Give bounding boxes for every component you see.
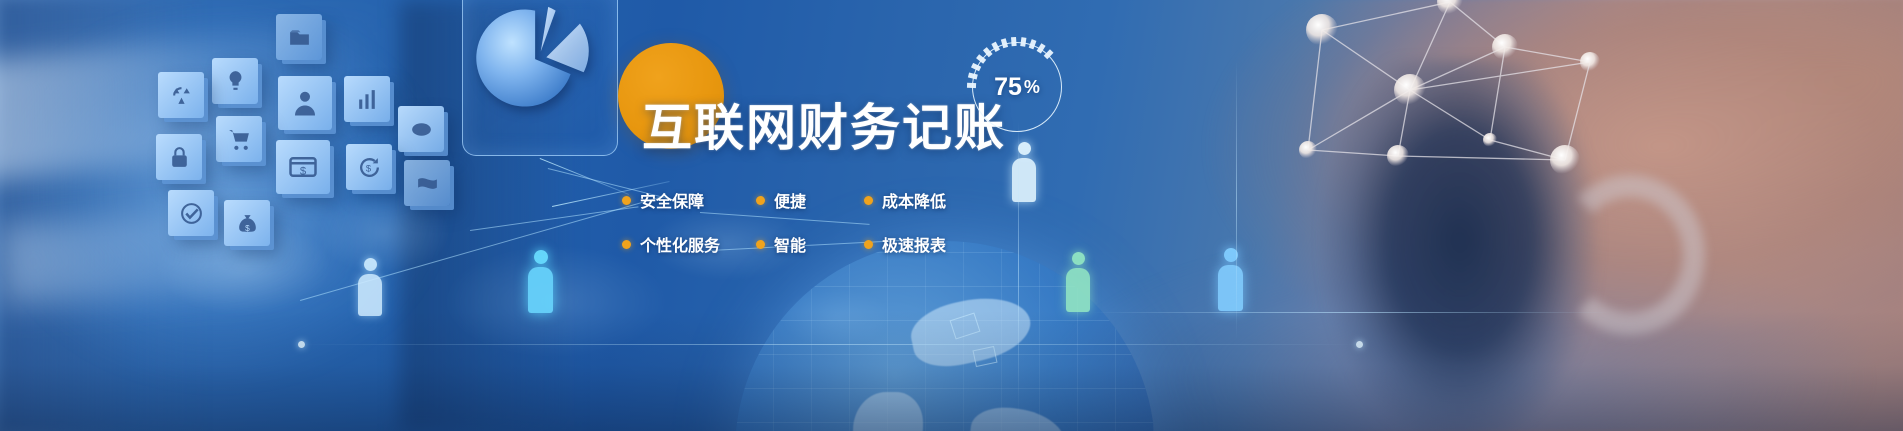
bullet-dot-icon	[622, 196, 631, 205]
gauge-value-group: 75 %	[972, 42, 1062, 132]
bullet-dot-icon	[756, 196, 765, 205]
person-pictogram	[358, 258, 382, 316]
icon-cube-cluster: $ $ $	[150, 10, 480, 270]
network-node-graph	[1290, 0, 1610, 180]
person-pictogram	[1066, 252, 1090, 312]
person-pictogram	[528, 250, 553, 313]
feature-item[interactable]: 极速报表	[864, 232, 946, 256]
feature-item[interactable]: 成本降低	[864, 188, 946, 212]
person-icon	[278, 76, 332, 130]
feature-label: 智能	[774, 232, 806, 256]
recycle-icon	[158, 72, 204, 118]
feature-label: 便捷	[774, 188, 806, 212]
coin-icon	[398, 106, 444, 152]
feature-item[interactable]: 个性化服务	[622, 232, 720, 256]
feature-label: 成本降低	[882, 188, 946, 212]
folder-icon	[276, 14, 322, 60]
credit-card-dollar-icon: $	[276, 140, 330, 194]
pie-chart-graphic	[481, 5, 593, 117]
svg-text:$: $	[245, 222, 250, 232]
pie-check-icon	[168, 190, 214, 236]
money-bag-icon: $	[224, 200, 270, 246]
feature-label: 个性化服务	[640, 232, 720, 256]
money-note-icon	[404, 160, 450, 206]
page-title: 互联网财务记账	[642, 99, 1006, 158]
svg-text:$: $	[300, 166, 307, 178]
feature-item[interactable]: 安全保障	[622, 188, 704, 212]
person-pictogram	[1218, 248, 1243, 311]
refresh-dollar-icon: $	[346, 144, 392, 190]
background-bottom-shade	[0, 311, 1903, 431]
promo-banner: $ $ $	[0, 0, 1903, 431]
feature-label: 极速报表	[882, 232, 946, 256]
bullet-dot-icon	[864, 240, 873, 249]
bullet-dot-icon	[622, 240, 631, 249]
feature-item[interactable]: 便捷	[756, 188, 806, 212]
lightbulb-icon	[212, 58, 258, 104]
gauge-unit: %	[1024, 77, 1040, 98]
person-pictogram	[1012, 142, 1036, 202]
feature-label: 安全保障	[640, 188, 704, 212]
bar-chart-icon	[344, 76, 390, 122]
bullet-dot-icon	[756, 240, 765, 249]
bullet-dot-icon	[864, 196, 873, 205]
gauge-value: 75	[994, 73, 1022, 102]
lock-icon	[156, 134, 202, 180]
progress-gauge: 75 %	[972, 42, 1062, 132]
pie-chart-panel	[462, 0, 618, 156]
shopping-cart-icon	[216, 116, 262, 162]
svg-text:$: $	[365, 163, 371, 173]
vertical-rail	[1236, 60, 1237, 340]
feature-item[interactable]: 智能	[756, 232, 806, 256]
